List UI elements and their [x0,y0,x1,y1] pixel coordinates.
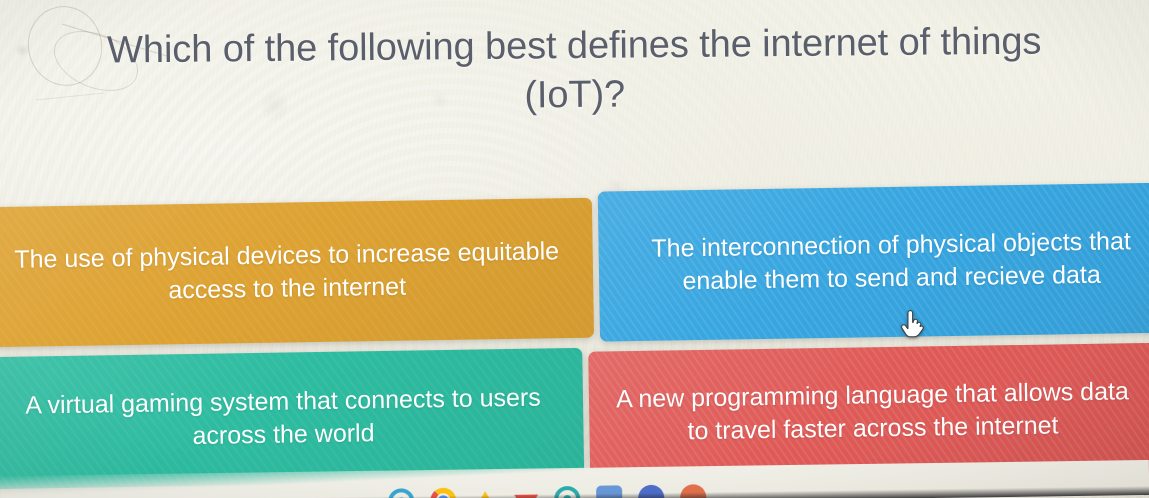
answer-option-blue[interactable]: The interconnection of physical objects … [598,182,1149,341]
answer-options-grid: The use of physical devices to increase … [0,181,1149,492]
answer-option-green-label: A virtual gaming system that connects to… [9,381,558,456]
answer-option-orange[interactable]: The use of physical devices to increase … [0,198,594,348]
question-text: Which of the following best defines the … [0,16,1149,124]
answer-option-red-label: A new programming language that allows d… [615,375,1131,449]
answer-option-orange-label: The use of physical devices to increase … [6,235,567,310]
answer-option-green[interactable]: A virtual gaming system that connects to… [0,348,584,489]
answer-option-blue-label: The interconnection of physical objects … [624,225,1149,299]
quiz-screenshot: Which of the following best defines the … [0,0,1149,498]
